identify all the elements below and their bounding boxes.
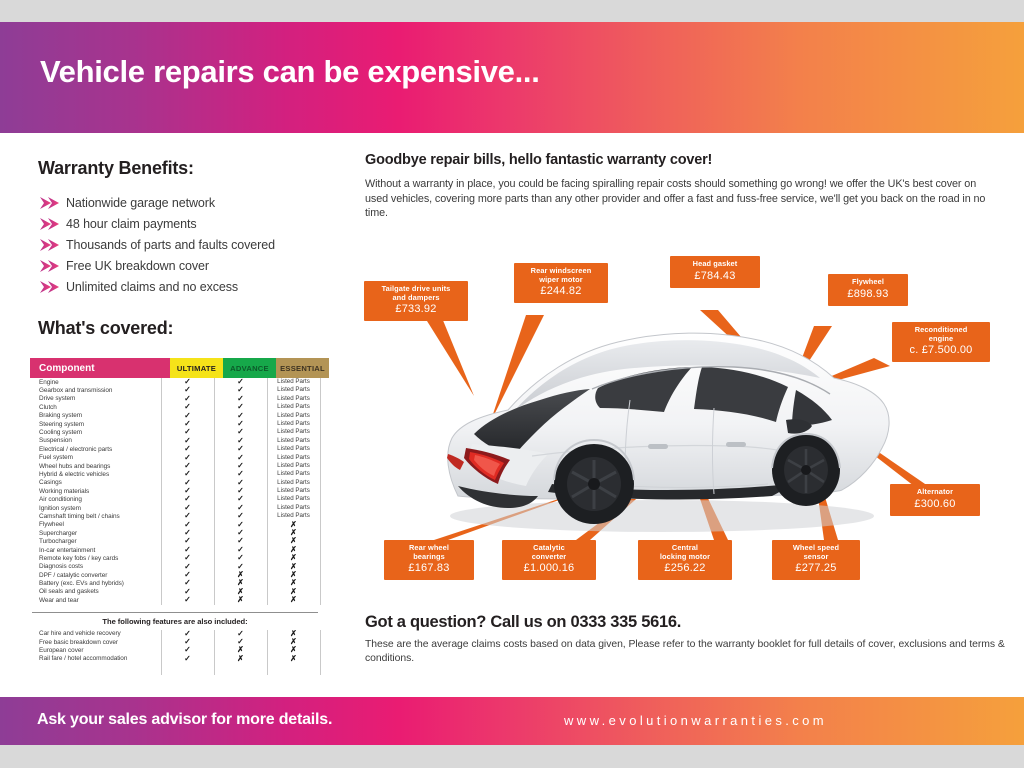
- cell-component: Working materials: [30, 488, 161, 495]
- column-header-advance: ADVANCE: [223, 358, 276, 378]
- table-row: Remote key fobs / key cards✓✓✗: [30, 554, 320, 562]
- table-row: Hybrid & electric vehicles✓✓Listed Parts: [30, 470, 320, 478]
- benefit-label: Free UK breakdown cover: [66, 259, 209, 273]
- cell-component: Drive system: [30, 395, 161, 402]
- column-header-component: Component: [30, 358, 170, 378]
- cell-component: European cover: [30, 647, 161, 654]
- callout-price: £784.43: [676, 270, 754, 283]
- cell-component: Flywheel: [30, 521, 161, 528]
- vehicle-parts-diagram: Tailgate drive unitsand dampers£733.92Re…: [362, 248, 1002, 598]
- table-row: In-car entertainment✓✓✗: [30, 546, 320, 554]
- cell-essential: Listed Parts: [267, 412, 320, 420]
- cell-essential: ✗: [267, 596, 320, 604]
- table-row: Car hire and vehicle recovery✓✓✗: [30, 630, 320, 638]
- cell-component: Suspension: [30, 437, 161, 444]
- callout-price: £300.60: [896, 498, 974, 511]
- cell-component: Fuel system: [30, 454, 161, 461]
- table-row: Wheel hubs and bearings✓✓Listed Parts: [30, 462, 320, 470]
- rear-wheel: [554, 444, 634, 524]
- table-row: Fuel system✓✓Listed Parts: [30, 454, 320, 462]
- footer-cta: Ask your sales advisor for more details.: [37, 711, 332, 729]
- callout-tailgate-drive-units: Tailgate drive unitsand dampers£733.92: [364, 281, 468, 321]
- whats-covered-heading: What's covered:: [38, 318, 338, 339]
- cell-component: Remote key fobs / key cards: [30, 555, 161, 562]
- table-row: Clutch✓✓Listed Parts: [30, 403, 320, 411]
- callout-price: £256.22: [644, 562, 726, 575]
- cell-component: Turbocharger: [30, 538, 161, 545]
- table-row: Ignition system✓✓Listed Parts: [30, 504, 320, 512]
- question-note: These are the average claims costs based…: [365, 638, 1024, 666]
- benefit-label: Unlimited claims and no excess: [66, 280, 238, 294]
- cell-component: Battery (exc. EVs and hybrids): [30, 580, 161, 587]
- cell-ultimate: ✓: [161, 596, 214, 604]
- benefit-item: Nationwide garage network: [38, 192, 338, 213]
- callout-wheel-speed-sensor: Wheel speedsensor£277.25: [772, 540, 860, 580]
- callout-label: Centrallocking motor: [644, 544, 726, 561]
- cell-essential: Listed Parts: [267, 479, 320, 487]
- chevron-right-icon: [38, 259, 60, 273]
- right-column: Goodbye repair bills, hello fantastic wa…: [365, 152, 993, 221]
- cell-component: Clutch: [30, 404, 161, 411]
- cell-component: Cooling system: [30, 429, 161, 436]
- callout-price: £733.92: [370, 303, 462, 316]
- table-row: Drive system✓✓Listed Parts: [30, 395, 320, 403]
- table-row: Supercharger✓✓✗: [30, 529, 320, 537]
- table-row: Camshaft timing belt / chains✓✓Listed Pa…: [30, 512, 320, 520]
- benefit-item: Thousands of parts and faults covered: [38, 234, 338, 255]
- cell-advance: ✗: [214, 596, 267, 604]
- cell-component: Electrical / electronic parts: [30, 446, 161, 453]
- callout-flywheel: Flywheel£898.93: [828, 274, 908, 306]
- table-row: Gearbox and transmission✓✓Listed Parts: [30, 386, 320, 394]
- cell-component: Free basic breakdown cover: [30, 639, 161, 646]
- callout-catalytic-converter: Catalyticconverter£1.000.16: [502, 540, 596, 580]
- benefit-item: 48 hour claim payments: [38, 213, 338, 234]
- callout-price: £1.000.16: [508, 562, 590, 575]
- extras-heading: The following features are also included…: [30, 617, 320, 626]
- table-row: Rail fare / hotel accommodation✓✗✗: [30, 655, 320, 663]
- chevron-right-icon: [38, 238, 60, 252]
- cell-ultimate: ✓: [161, 655, 214, 663]
- callout-price: £277.25: [778, 562, 854, 575]
- cell-essential: Listed Parts: [267, 437, 320, 445]
- callout-alternator: Alternator£300.60: [890, 484, 980, 516]
- callout-label: Rear windscreenwiper motor: [520, 267, 602, 284]
- table-row: Wear and tear✓✗✗: [30, 596, 320, 604]
- table-row: Engine✓✓Listed Parts: [30, 378, 320, 386]
- table-extras-body: Car hire and vehicle recovery✓✓✗Free bas…: [30, 630, 320, 664]
- cell-essential: Listed Parts: [267, 462, 320, 470]
- callout-reconditioned-engine: Reconditionedenginec. £7.500.00: [892, 322, 990, 362]
- cell-essential: ✗: [267, 655, 320, 663]
- table-row: Turbocharger✓✓✗: [30, 537, 320, 545]
- table-row: Battery (exc. EVs and hybrids)✓✗✗: [30, 579, 320, 587]
- column-divider: [320, 630, 321, 676]
- callout-price: £167.83: [390, 562, 468, 575]
- column-divider: [267, 630, 268, 676]
- callout-price: £244.82: [520, 285, 602, 298]
- cell-component: Ignition system: [30, 505, 161, 512]
- cell-essential: Listed Parts: [267, 495, 320, 503]
- table-row: Cooling system✓✓Listed Parts: [30, 428, 320, 436]
- cell-component: Air conditioning: [30, 496, 161, 503]
- left-column: Warranty Benefits: Nationwide garage net…: [38, 158, 338, 339]
- cell-component: DPF / catalytic converter: [30, 572, 161, 579]
- intro-body: Without a warranty in place, you could b…: [365, 177, 993, 221]
- column-divider: [161, 378, 162, 605]
- table-row: Oil seals and gaskets✓✗✗: [30, 588, 320, 596]
- cell-essential: Listed Parts: [267, 395, 320, 403]
- benefit-item: Free UK breakdown cover: [38, 255, 338, 276]
- callout-label: Flywheel: [834, 278, 902, 287]
- table-row: Braking system✓✓Listed Parts: [30, 412, 320, 420]
- cell-component: In-car entertainment: [30, 547, 161, 554]
- callout-head-gasket: Head gasket£784.43: [670, 256, 760, 288]
- callout-rear-wheel-bearings: Rear wheelbearings£167.83: [384, 540, 474, 580]
- callout-label: Alternator: [896, 488, 974, 497]
- cell-essential: Listed Parts: [267, 420, 320, 428]
- callout-label: Head gasket: [676, 260, 754, 269]
- question-heading: Got a question? Call us on 0333 335 5616…: [365, 613, 681, 632]
- callout-label: Wheel speedsensor: [778, 544, 854, 561]
- poster-page: Vehicle repairs can be expensive... Warr…: [0, 0, 1024, 768]
- chevron-right-icon: [38, 196, 60, 210]
- cell-component: Hybrid & electric vehicles: [30, 471, 161, 478]
- column-divider: [214, 378, 215, 605]
- benefit-item: Unlimited claims and no excess: [38, 276, 338, 297]
- cell-essential: Listed Parts: [267, 386, 320, 394]
- table-row: Free basic breakdown cover✓✓✗: [30, 638, 320, 646]
- cell-essential: Listed Parts: [267, 470, 320, 478]
- cell-component: Gearbox and transmission: [30, 387, 161, 394]
- callout-label: Reconditionedengine: [898, 326, 984, 343]
- callout-central-locking-motor: Centrallocking motor£256.22: [638, 540, 732, 580]
- table-row: Flywheel✓✓✗: [30, 521, 320, 529]
- column-divider: [161, 630, 162, 676]
- table-row: European cover✓✗✗: [30, 646, 320, 654]
- table-row: Air conditioning✓✓Listed Parts: [30, 495, 320, 503]
- column-divider: [214, 630, 215, 676]
- cell-component: Car hire and vehicle recovery: [30, 630, 161, 637]
- cell-component: Camshaft timing belt / chains: [30, 513, 161, 520]
- warranty-benefits-heading: Warranty Benefits:: [38, 158, 338, 179]
- footer-website[interactable]: www.evolutionwarranties.com: [564, 713, 827, 728]
- coverage-table: Component ULTIMATE ADVANCE ESSENTIAL Eng…: [30, 358, 320, 663]
- table-row: Casings✓✓Listed Parts: [30, 479, 320, 487]
- table-row: Diagnosis costs✓✓✗: [30, 563, 320, 571]
- callout-label: Tailgate drive unitsand dampers: [370, 285, 462, 302]
- cell-component: Rail fare / hotel accommodation: [30, 655, 161, 662]
- column-header-ultimate: ULTIMATE: [170, 358, 223, 378]
- callout-label: Rear wheelbearings: [390, 544, 468, 561]
- cell-component: Oil seals and gaskets: [30, 588, 161, 595]
- cell-essential: Listed Parts: [267, 378, 320, 386]
- cell-component: Steering system: [30, 421, 161, 428]
- callout-price: c. £7.500.00: [898, 344, 984, 357]
- benefits-list: Nationwide garage network48 hour claim p…: [38, 192, 338, 297]
- cell-component: Braking system: [30, 412, 161, 419]
- cell-component: Diagnosis costs: [30, 563, 161, 570]
- callout-label: Catalyticconverter: [508, 544, 590, 561]
- benefit-label: 48 hour claim payments: [66, 217, 197, 231]
- cell-essential: Listed Parts: [267, 487, 320, 495]
- cell-essential: Listed Parts: [267, 445, 320, 453]
- table-row: DPF / catalytic converter✓✗✗: [30, 571, 320, 579]
- cell-advance: ✗: [214, 655, 267, 663]
- callout-price: £898.93: [834, 288, 902, 301]
- benefit-label: Nationwide garage network: [66, 196, 215, 210]
- cell-essential: Listed Parts: [267, 428, 320, 436]
- benefit-label: Thousands of parts and faults covered: [66, 238, 275, 252]
- table-divider: [32, 612, 318, 613]
- cell-component: Casings: [30, 479, 161, 486]
- callout-rear-windscreen-wiper-motor: Rear windscreenwiper motor£244.82: [514, 263, 608, 303]
- cell-component: Engine: [30, 379, 161, 386]
- column-divider: [320, 378, 321, 605]
- column-divider: [267, 378, 268, 605]
- cell-component: Wear and tear: [30, 597, 161, 604]
- column-header-essential: ESSENTIAL: [276, 358, 329, 378]
- cell-essential: Listed Parts: [267, 454, 320, 462]
- cell-essential: Listed Parts: [267, 403, 320, 411]
- table-row: Working materials✓✓Listed Parts: [30, 487, 320, 495]
- table-header-row: Component ULTIMATE ADVANCE ESSENTIAL: [30, 358, 320, 378]
- page-title: Vehicle repairs can be expensive...: [40, 54, 540, 90]
- chevron-right-icon: [38, 280, 60, 294]
- table-row: Electrical / electronic parts✓✓Listed Pa…: [30, 445, 320, 453]
- table-row: Steering system✓✓Listed Parts: [30, 420, 320, 428]
- chevron-right-icon: [38, 217, 60, 231]
- table-body: Engine✓✓Listed PartsGearbox and transmis…: [30, 378, 320, 605]
- cell-component: Supercharger: [30, 530, 161, 537]
- table-row: Suspension✓✓Listed Parts: [30, 437, 320, 445]
- cell-essential: Listed Parts: [267, 504, 320, 512]
- intro-heading: Goodbye repair bills, hello fantastic wa…: [365, 152, 993, 168]
- cell-component: Wheel hubs and bearings: [30, 463, 161, 470]
